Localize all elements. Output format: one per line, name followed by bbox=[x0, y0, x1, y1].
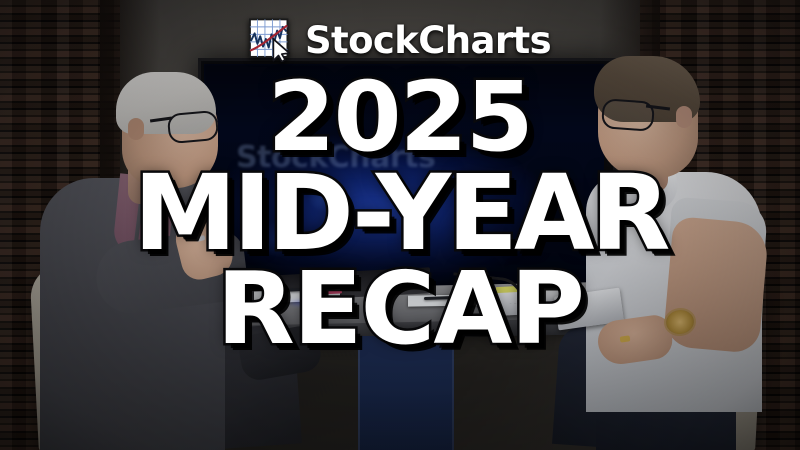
left-person-ear bbox=[128, 118, 144, 140]
monitor-ghost-logo-text: StockCharts bbox=[236, 140, 576, 174]
video-thumbnail: StockCharts bbox=[0, 0, 800, 450]
right-person-ear bbox=[676, 106, 692, 128]
desk-pedestal bbox=[358, 336, 454, 450]
right-person-glasses bbox=[601, 98, 655, 132]
desk-blue-light-left bbox=[284, 300, 324, 306]
left-person-glasses bbox=[167, 110, 219, 144]
monitor-blue-glow bbox=[204, 64, 604, 300]
